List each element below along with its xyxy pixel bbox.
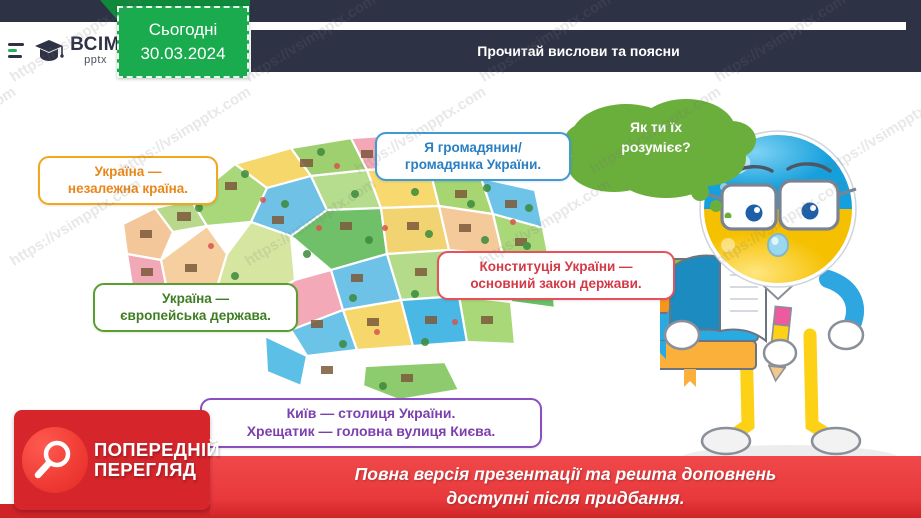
thought-bubble-text: Як ти їх розумієє?: [586, 117, 726, 158]
callout-european-line-1: Україна —: [105, 290, 286, 307]
callout-constitution[interactable]: Конституція України — основний закон дер…: [437, 251, 675, 300]
callout-citizen[interactable]: Я громадянин/ громадянка України.: [375, 132, 571, 181]
page-title-text: Прочитай вислови та поясни: [477, 43, 679, 59]
callout-citizen-line-1: Я громадянин/: [387, 139, 559, 156]
date-badge: Сьогодні 30.03.2024: [117, 6, 249, 78]
purchase-notice-banner: Повна версія презентації та решта доповн…: [210, 456, 921, 518]
callout-european-line-2: європейська держава.: [105, 307, 286, 324]
purchase-notice-line-2: доступні після придбання.: [446, 487, 684, 511]
purchase-notice-line-1: Повна версія презентації та решта доповн…: [355, 463, 777, 487]
preview-badge[interactable]: ПОПЕРЕДНІЙ ПЕРЕГЛЯД: [14, 410, 210, 510]
header-underline-white: [251, 72, 921, 84]
page-title: Прочитай вислови та поясни: [251, 30, 906, 72]
preview-badge-text: ПОПЕРЕДНІЙ ПЕРЕГЛЯД: [94, 440, 220, 480]
logo-sub: pptx: [84, 55, 120, 66]
brand-logo[interactable]: ВСІМ pptx: [8, 28, 120, 72]
thought-bubble: Як ти їх розумієє?: [556, 92, 766, 212]
date-badge-label: Сьогодні: [149, 20, 218, 40]
callout-kyiv[interactable]: Київ — столиця України. Хрещатик — голов…: [200, 398, 542, 448]
callout-kyiv-line-1: Київ — столиця України.: [212, 405, 530, 423]
preview-badge-line-1: ПОПЕРЕДНІЙ: [94, 440, 220, 460]
callout-kyiv-line-2: Хрещатик — головна вулиця Києва.: [212, 423, 530, 441]
callout-independent[interactable]: Україна — незалежна країна.: [38, 156, 218, 205]
logo-name: ВСІМ: [70, 35, 120, 54]
callout-citizen-line-2: громадянка України.: [387, 156, 559, 173]
thought-line-2: розумієє?: [586, 137, 726, 157]
graduation-cap-icon: [32, 33, 66, 67]
preview-badge-line-2: ПЕРЕГЛЯД: [94, 460, 220, 480]
callout-independent-line-2: незалежна країна.: [50, 180, 206, 197]
callout-european[interactable]: Україна — європейська держава.: [93, 283, 298, 332]
thought-line-1: Як ти їх: [586, 117, 726, 137]
callout-constitution-line-2: основний закон держави.: [449, 275, 663, 292]
speed-lines-icon: [8, 43, 28, 58]
date-badge-value: 30.03.2024: [140, 44, 225, 64]
magnifier-icon: [22, 427, 88, 493]
slide-canvas: ВСІМ pptx Сьогодні 30.03.2024 Прочитай в…: [0, 0, 921, 518]
callout-constitution-line-1: Конституція України —: [449, 258, 663, 275]
callout-independent-line-1: Україна —: [50, 163, 206, 180]
